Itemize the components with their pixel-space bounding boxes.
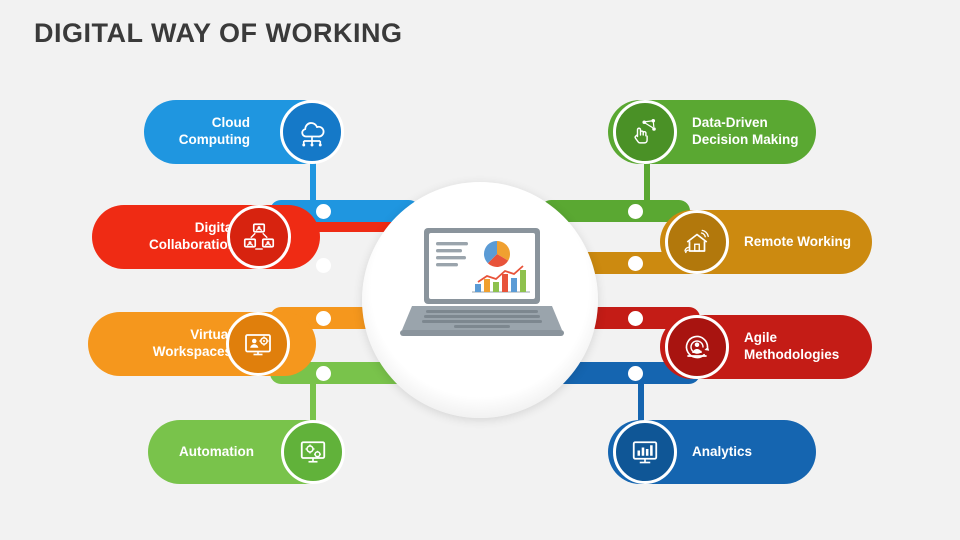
label-line1: Agile <box>744 330 777 345</box>
label-line1: Automation <box>179 444 254 459</box>
connector-dot-digital-collaboration <box>316 258 331 273</box>
label-line2: Decision Making <box>692 132 799 147</box>
connector-dot-analytics <box>628 366 643 381</box>
label-line2: Workspaces <box>153 344 232 359</box>
icon-circle-virtual-workspaces[interactable] <box>226 312 290 376</box>
label-line1: Data-Driven <box>692 115 768 130</box>
label-line2: Methodologies <box>744 347 839 362</box>
label-line2: Computing <box>179 132 250 147</box>
label-line1: Remote Working <box>744 234 851 249</box>
connector-dot-virtual-workspaces <box>316 311 331 326</box>
cloud-network-icon <box>294 114 330 150</box>
connector-dot-agile <box>628 311 643 326</box>
icon-circle-remote-working[interactable] <box>665 210 729 274</box>
automation-monitor-gears-icon <box>295 434 331 470</box>
icon-circle-agile-methodologies[interactable] <box>665 315 729 379</box>
connector-dot-remote-working <box>628 256 643 271</box>
connector-dot-automation <box>316 366 331 381</box>
icon-circle-analytics[interactable] <box>613 420 677 484</box>
workspace-monitor-gear-icon <box>240 326 276 362</box>
label-line2: Collaboration <box>149 237 236 252</box>
slide-canvas: DIGITAL WAY OF WORKING Cloud Computing <box>0 0 960 540</box>
label-line1: Analytics <box>692 444 752 459</box>
icon-circle-automation[interactable] <box>281 420 345 484</box>
agile-cycle-person-icon <box>679 329 715 365</box>
collaboration-screens-icon <box>241 219 277 255</box>
icon-circle-digital-collaboration[interactable] <box>227 205 291 269</box>
laptop-illustration <box>398 224 566 344</box>
page-title: DIGITAL WAY OF WORKING <box>34 18 403 49</box>
house-wifi-icon <box>679 224 715 260</box>
decision-hand-network-icon <box>627 114 663 150</box>
analytics-monitor-chart-icon <box>627 434 663 470</box>
label-line1: Cloud <box>212 115 250 130</box>
icon-circle-data-driven-decision-making[interactable] <box>613 100 677 164</box>
connector-dot-cloud-computing <box>316 204 331 219</box>
icon-circle-cloud-computing[interactable] <box>280 100 344 164</box>
connector-dot-data-driven <box>628 204 643 219</box>
